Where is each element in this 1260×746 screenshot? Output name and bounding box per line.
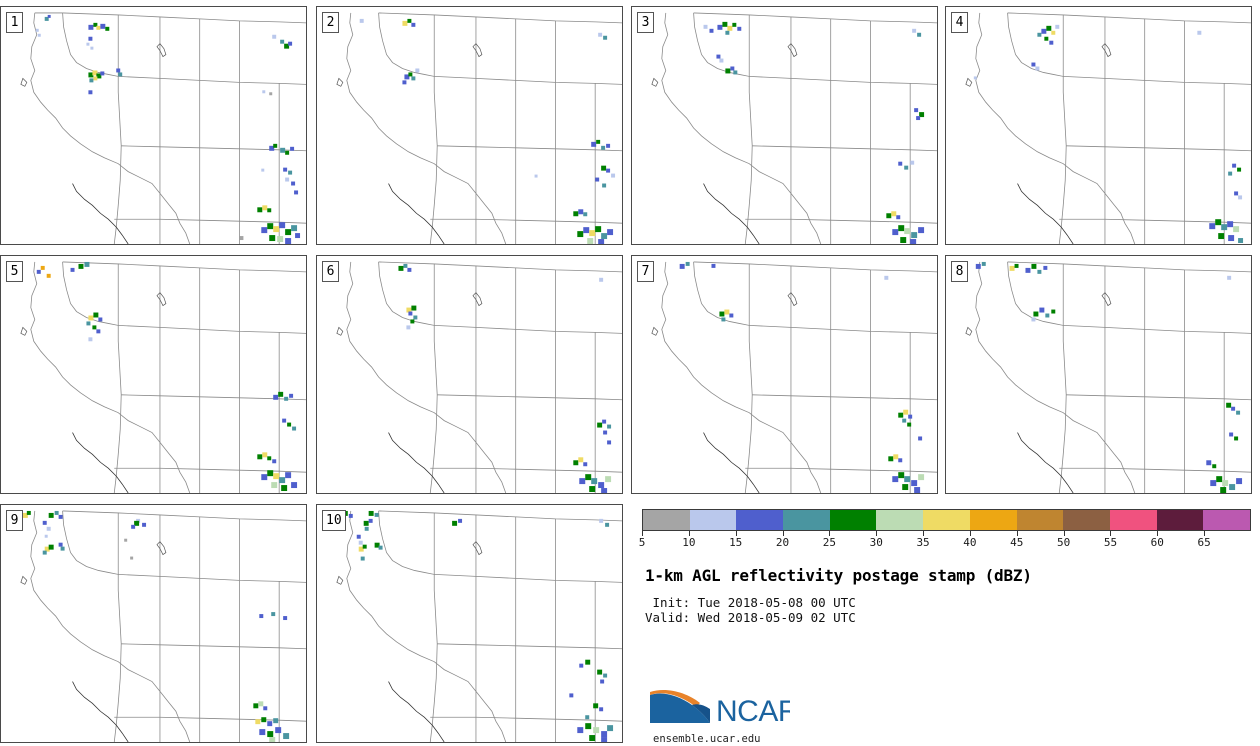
panel-label: 9 <box>6 510 23 531</box>
colorbar-bin-25 <box>830 510 877 530</box>
colorbar-bin-65 <box>1203 510 1250 530</box>
colorbar-tick-label: 60 <box>1151 536 1164 549</box>
colorbar-bin-35 <box>923 510 970 530</box>
colorbar-bin-40 <box>970 510 1017 530</box>
colorbar-bin-60 <box>1157 510 1204 530</box>
ensemble-panel-7[interactable]: 7 <box>631 255 938 494</box>
colorbar-bin-10 <box>690 510 737 530</box>
reflectivity-colorbar: 5101520253035404550556065 <box>642 509 1251 531</box>
colorbar-swatches <box>642 509 1251 531</box>
panel-label: 7 <box>637 261 654 282</box>
colorbar-tick-label: 25 <box>823 536 836 549</box>
colorbar-tick-labels: 5101520253035404550556065 <box>642 536 1251 550</box>
ensemble-panel-2[interactable]: 2 <box>316 6 623 245</box>
colorbar-bin-5 <box>643 510 690 530</box>
panel-label: 1 <box>6 12 23 33</box>
colorbar-bin-50 <box>1063 510 1110 530</box>
ensemble-panel-9[interactable]: 9 <box>0 504 307 743</box>
colorbar-tick-label: 45 <box>1010 536 1023 549</box>
panel-label: 4 <box>951 12 968 33</box>
init-time: Init: Tue 2018-05-08 00 UTC <box>645 595 1245 610</box>
map-graphic <box>632 7 937 244</box>
colorbar-tick-label: 15 <box>729 536 742 549</box>
colorbar-bin-55 <box>1110 510 1157 530</box>
panel-label: 8 <box>951 261 968 282</box>
panel-label: 10 <box>322 510 346 531</box>
map-graphic <box>1 505 306 742</box>
map-graphic <box>1 7 306 244</box>
colorbar-tick-label: 35 <box>916 536 929 549</box>
panel-label: 2 <box>322 12 339 33</box>
figure-meta: Init: Tue 2018-05-08 00 UTC Valid: Wed 2… <box>645 595 1245 626</box>
logo-url[interactable]: ensemble.ucar.edu <box>653 733 760 745</box>
colorbar-bin-30 <box>876 510 923 530</box>
map-graphic <box>1 256 306 493</box>
ensemble-panel-10[interactable]: 10 <box>316 504 623 743</box>
figure-title: 1-km AGL reflectivity postage stamp (dBZ… <box>645 566 1245 585</box>
colorbar-bin-20 <box>783 510 830 530</box>
colorbar-tick-label: 20 <box>776 536 789 549</box>
colorbar-bin-15 <box>736 510 783 530</box>
map-graphic <box>317 505 622 742</box>
colorbar-tick-label: 30 <box>870 536 883 549</box>
colorbar-tick-label: 10 <box>682 536 695 549</box>
colorbar-tick-label: 55 <box>1104 536 1117 549</box>
map-graphic <box>317 256 622 493</box>
map-graphic <box>632 256 937 493</box>
ensemble-panel-4[interactable]: 4 <box>945 6 1252 245</box>
panel-label: 5 <box>6 261 23 282</box>
ensemble-panel-8[interactable]: 8 <box>945 255 1252 494</box>
panel-label: 6 <box>322 261 339 282</box>
ensemble-panel-5[interactable]: 5 <box>0 255 307 494</box>
ensemble-panel-1[interactable]: 1 <box>0 6 307 245</box>
map-graphic <box>946 7 1251 244</box>
valid-time: Valid: Wed 2018-05-09 02 UTC <box>645 610 1245 625</box>
ncar-logo-mark: NCAR <box>648 683 790 729</box>
ncar-logo[interactable]: NCAR <box>648 683 790 729</box>
colorbar-tick-label: 5 <box>639 536 646 549</box>
colorbar-tick-label: 50 <box>1057 536 1070 549</box>
map-graphic <box>317 7 622 244</box>
colorbar-bin-45 <box>1017 510 1064 530</box>
panel-label: 3 <box>637 12 654 33</box>
colorbar-tick-label: 65 <box>1198 536 1211 549</box>
colorbar-tick-label: 40 <box>963 536 976 549</box>
ensemble-panel-6[interactable]: 6 <box>316 255 623 494</box>
map-graphic <box>946 256 1251 493</box>
ensemble-panel-3[interactable]: 3 <box>631 6 938 245</box>
svg-text:NCAR: NCAR <box>716 695 790 728</box>
figure-caption: 1-km AGL reflectivity postage stamp (dBZ… <box>645 566 1245 626</box>
